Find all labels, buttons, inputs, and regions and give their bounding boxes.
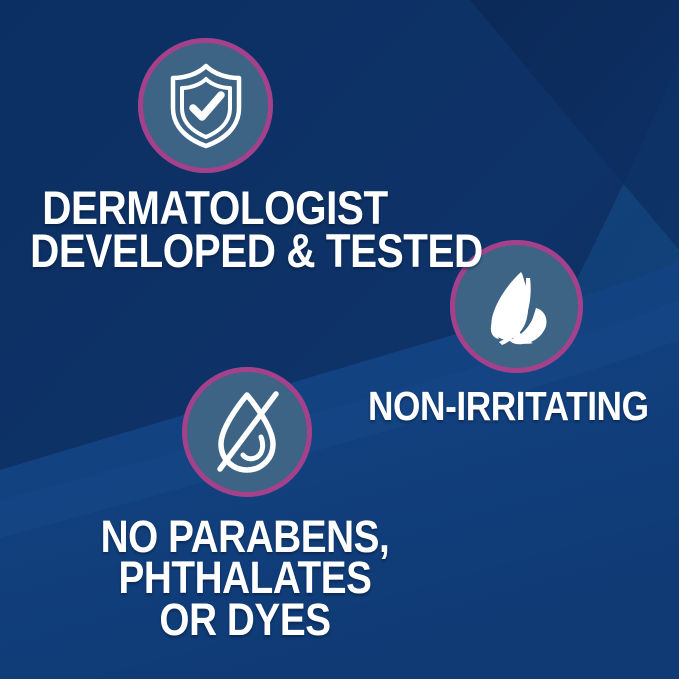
claim-text-dermatologist: DERMATOLOGIST DEVELOPED & TESTED [30,186,400,272]
shield-check-icon [165,62,247,150]
claim-line: DERMATOLOGIST [30,186,400,229]
claim-text-no-parabens: NO PARABENS, PHTHALATES OR DYES [82,516,409,640]
claim-line: DEVELOPED & TESTED [30,229,400,272]
feather-icon [474,264,560,350]
claim-line: OR DYES [82,599,409,640]
badge-no-parabens [182,367,312,497]
claim-text-non-irritating: NON-IRRITATING [368,388,649,426]
badge-dermatologist [138,38,273,173]
benefits-infographic: DERMATOLOGIST DEVELOPED & TESTED NON-IRR… [0,0,679,679]
claim-line: PHTHALATES [82,557,409,598]
droplet-slash-icon [205,387,289,477]
claim-line: NO PARABENS, [82,516,409,557]
claim-line: NON-IRRITATING [368,388,649,426]
